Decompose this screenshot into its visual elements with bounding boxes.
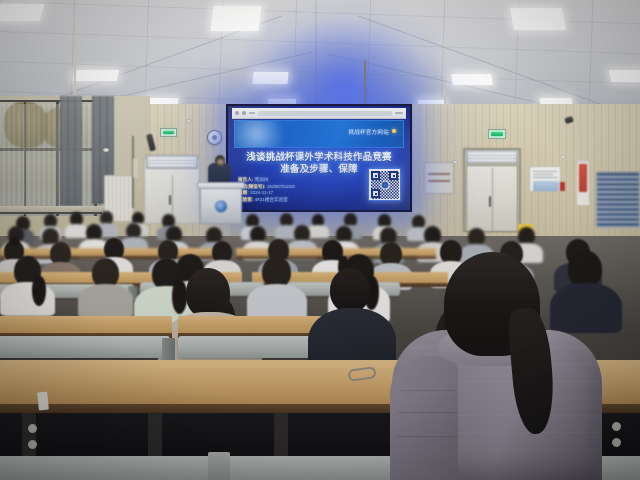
desk-leg-bolt — [612, 438, 621, 447]
qr-finder-icon — [389, 171, 398, 180]
toolbar-forward-icon — [242, 111, 246, 115]
desk-row-near — [0, 316, 172, 334]
ceiling-light-panel — [210, 6, 261, 31]
double-door[interactable] — [466, 165, 518, 232]
poster-text-line — [533, 171, 557, 172]
desk-clip — [37, 392, 49, 411]
qr-code — [368, 168, 401, 201]
shoulders — [307, 225, 329, 238]
desk-support-leg — [22, 413, 36, 461]
jacket-seam — [398, 412, 458, 413]
qr-logo-icon — [380, 180, 389, 189]
ceiling-hanger-rod — [74, 22, 76, 104]
exit-sign-glow — [491, 132, 503, 136]
ponytail — [172, 280, 187, 314]
slide-title-line-1: 浅谈挑战杯课外学术科技作品竞赛 — [232, 152, 406, 164]
shoulders — [78, 284, 133, 318]
window-sill — [0, 206, 112, 212]
browser-toolbar — [232, 108, 406, 119]
lectern-emblem — [215, 200, 228, 213]
storage-shelf — [596, 172, 640, 228]
jacket-arm — [390, 356, 458, 480]
toolbar-back-icon — [235, 111, 239, 115]
foreground-attendee — [396, 252, 600, 480]
curtain-panel — [60, 96, 82, 206]
poster-text-line — [533, 174, 553, 175]
exit-sign-left — [160, 128, 177, 137]
meta-value: 2024-11-17 — [250, 190, 273, 195]
ceiling-light-panel — [609, 70, 640, 82]
grey-notice-board — [424, 162, 454, 194]
wall-clock — [207, 130, 222, 145]
poster-photo — [533, 181, 559, 191]
red-banner-poster — [576, 160, 590, 206]
presenter-face — [217, 159, 224, 165]
toolbar-menu-icon — [249, 112, 255, 114]
smoke-detector — [186, 119, 192, 123]
shoulders — [0, 282, 55, 316]
slide-meta-row: 日期: 2024-11-17 — [238, 190, 346, 197]
exit-sign-right — [488, 129, 506, 139]
window-pane-group — [0, 100, 102, 216]
transom-louvres — [469, 153, 515, 161]
presentation-slide: 挑战杯官方网站 浅谈挑战杯课外学术科技作品竞赛 准备及步骤、保障 报告人: 周加… — [228, 106, 410, 210]
bench-rail-bracket — [208, 452, 230, 480]
lectern-top — [197, 182, 245, 189]
bench-leg — [162, 338, 175, 362]
lecture-hall-photo: 挑战杯官方网站 浅谈挑战杯课外学术科技作品竞赛 准备及步骤、保障 报告人: 周加… — [0, 0, 640, 480]
slide-header-banner: 挑战杯官方网站 — [234, 120, 404, 148]
hair-bun — [9, 237, 20, 246]
notice-line — [428, 180, 449, 182]
wall-conduit — [455, 112, 457, 160]
desk-support-leg — [148, 413, 162, 461]
notice-line — [428, 173, 449, 175]
ceiling-light-panel — [510, 8, 566, 30]
poster-text-line — [533, 177, 558, 178]
exit-sign-glow — [163, 131, 174, 135]
ceiling-light-panel — [73, 70, 119, 81]
desk-leg-bolt — [28, 424, 37, 433]
desk-leg-bolt — [28, 440, 37, 449]
ceiling-light-panel — [0, 4, 44, 21]
meta-value: 周加州 — [255, 177, 269, 182]
vent-louvres — [149, 158, 195, 166]
banner-text: 挑战杯官方网站 — [348, 128, 389, 136]
smoke-detector — [560, 155, 566, 159]
jacket-seam — [400, 390, 456, 391]
door-transom — [466, 150, 518, 164]
fire-extinguisher-marker — [560, 182, 565, 191]
slide-meta-row: 实验室: 4#21楼合实验室 — [238, 197, 346, 204]
wall-pipe — [133, 158, 138, 178]
ponytail — [32, 276, 46, 306]
banner-marker-icon — [392, 129, 396, 133]
door-split — [492, 168, 493, 231]
lectern — [200, 186, 242, 224]
desk-support-leg — [274, 413, 288, 461]
slide-metadata: 报告人: 周加州 电话(微信号): 15288751006 日期: 2024-1… — [238, 177, 346, 203]
info-poster — [529, 166, 561, 192]
head — [330, 268, 370, 312]
toolbar-address-bar — [258, 111, 392, 116]
door-handle[interactable] — [489, 196, 491, 207]
slide-meta-row: 报告人: 周加州 — [238, 177, 346, 184]
projection-screen: 挑战杯官方网站 浅谈挑战杯课外学术科技作品竞赛 准备及步骤、保障 报告人: 周加… — [226, 104, 412, 212]
meta-value: 4#21楼合实验室 — [255, 197, 288, 202]
jacket-seam — [396, 436, 458, 437]
desk-leg-bolt — [612, 422, 621, 431]
toolbar-extra-icon — [395, 112, 403, 114]
smoke-detector — [103, 148, 109, 152]
red-banner-fill — [579, 164, 588, 192]
ceiling-light-panel — [451, 74, 492, 85]
qr-finder-icon — [371, 189, 380, 198]
qr-finder-icon — [371, 171, 380, 180]
ceiling-light-panel — [252, 72, 288, 84]
meta-value: 15288751006 — [267, 184, 295, 189]
bench-back — [0, 336, 170, 358]
cabinet-transom-vent — [146, 155, 198, 169]
cabinet-handle — [169, 195, 171, 205]
shoulders — [65, 224, 88, 238]
window-mullion — [0, 100, 102, 102]
